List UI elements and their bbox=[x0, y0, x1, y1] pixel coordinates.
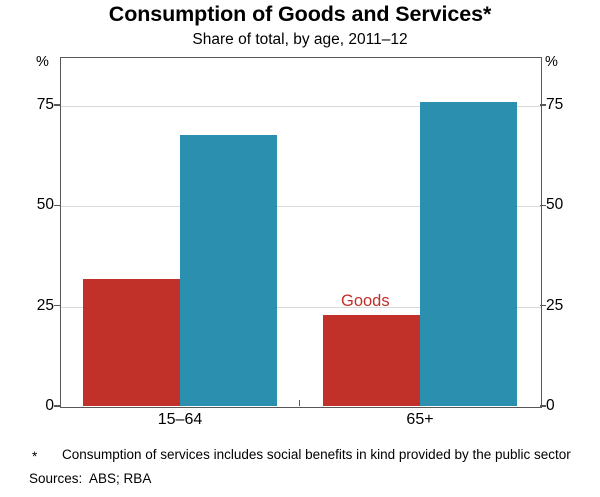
y-tick-label-left-25: 25 bbox=[6, 298, 54, 314]
y-tick-label-right-25: 25 bbox=[546, 298, 594, 314]
y-axis-unit-left: % bbox=[36, 54, 49, 70]
series-label-services: Services bbox=[432, 105, 495, 124]
x-axis-mid-tick bbox=[299, 400, 300, 406]
y-tick-label-left-0: 0 bbox=[6, 398, 54, 414]
chart-title: Consumption of Goods and Services* bbox=[0, 2, 600, 27]
y-tick-label-left-50: 50 bbox=[6, 197, 54, 213]
footnote-block: * Consumption of services includes socia… bbox=[32, 446, 592, 487]
footnote-text: Consumption of services includes social … bbox=[62, 446, 592, 463]
y-tick-label-right-0: 0 bbox=[546, 398, 594, 414]
bar-services-15–64 bbox=[180, 135, 277, 406]
x-axis-category-label-1: 65+ bbox=[303, 411, 537, 429]
y-tick-label-left-75: 75 bbox=[6, 97, 54, 113]
y-tick-mark-left-50 bbox=[54, 205, 60, 206]
bar-goods-15–64 bbox=[83, 279, 180, 406]
y-tick-mark-left-0 bbox=[54, 405, 60, 406]
series-label-goods: Goods bbox=[341, 292, 390, 311]
y-tick-mark-left-25 bbox=[54, 305, 60, 306]
chart-subtitle: Share of total, by age, 2011–12 bbox=[0, 31, 600, 49]
x-axis-category-label-0: 15–64 bbox=[63, 411, 297, 429]
footnote-marker: * bbox=[32, 446, 62, 465]
sources-line: Sources: ABS; RBA bbox=[29, 470, 592, 487]
y-tick-mark-left-75 bbox=[54, 104, 60, 105]
y-tick-label-right-75: 75 bbox=[546, 97, 594, 113]
bar-goods-65+ bbox=[323, 315, 420, 406]
sources-value: ABS; RBA bbox=[89, 471, 151, 486]
footnote-row: * Consumption of services includes socia… bbox=[32, 446, 592, 465]
y-axis-unit-right: % bbox=[545, 54, 558, 70]
sources-label: Sources: bbox=[29, 471, 82, 486]
y-tick-label-right-50: 50 bbox=[546, 197, 594, 213]
bar-services-65+ bbox=[420, 102, 517, 406]
